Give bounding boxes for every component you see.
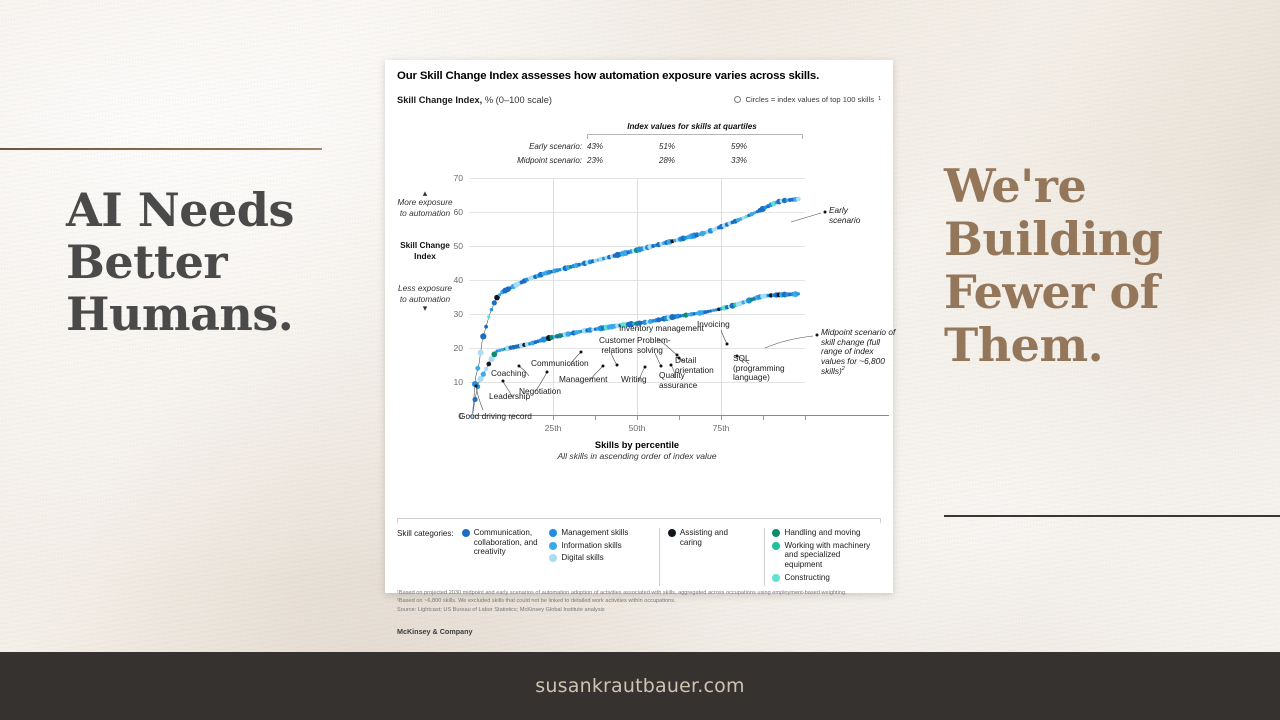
- x-axis-tick-label: 25th: [545, 423, 562, 433]
- legend-dot-icon: [549, 554, 557, 562]
- axis-unit-light: % (0–100 scale): [482, 95, 552, 105]
- x-axis-caption: Skills by percentile All skills in ascen…: [469, 440, 805, 461]
- x-axis-caption-bold: Skills by percentile: [469, 440, 805, 450]
- legend-group-management: Management skills Information skills Dig…: [549, 528, 651, 586]
- x-axis-caption-italic: All skills in ascending order of index v…: [469, 451, 805, 461]
- up-arrow-dot-icon: ▴: [397, 190, 453, 197]
- series-label-midpoint-text: Midpoint scenario of skill change (full …: [821, 327, 895, 376]
- y-axis-less-label: Less exposure to automation: [397, 283, 453, 304]
- y-axis-tick-label: 30: [453, 309, 463, 319]
- chart-axis-unit: Skill Change Index, % (0–100 scale): [397, 95, 552, 105]
- down-arrow-dot-icon: ▾: [397, 305, 453, 312]
- quartile-row-label: Midpoint scenario:: [503, 156, 587, 165]
- legend-group-assisting: Assisting and caring: [668, 528, 756, 586]
- annotation-invoicing: Invoicing: [697, 320, 730, 330]
- footer-url: susankrautbauer.com: [535, 675, 744, 697]
- series-label-early: Early scenario: [829, 206, 860, 225]
- annotation-inventory-management: Inventory management: [619, 324, 704, 334]
- list-item[interactable]: Assisting and caring: [668, 528, 748, 547]
- mckinsey-brand: McKinsey & Company: [397, 627, 473, 636]
- left-divider-rule: [0, 148, 322, 150]
- y-axis-more-label: More exposure to automation: [397, 197, 453, 218]
- y-axis-tick-label: 40: [453, 275, 463, 285]
- list-item[interactable]: Working with machinery and specialized e…: [772, 541, 873, 570]
- legend-item-label: Constructing: [784, 573, 829, 583]
- chart-subheader-row: Skill Change Index, % (0–100 scale) Circ…: [397, 95, 881, 105]
- circles-legend-note: Circles = index values of top 100 skills…: [734, 95, 881, 104]
- axis-unit-bold: Skill Change Index,: [397, 95, 482, 105]
- legend-dot-icon: [549, 529, 557, 537]
- quartile-table-bracket: [587, 134, 803, 139]
- quartile-table: Index values for skills at quartiles Ear…: [503, 122, 833, 165]
- legend-dot-icon: [772, 542, 780, 550]
- quartile-cell: 23%: [587, 156, 659, 165]
- y-axis-tick-label: 20: [453, 343, 463, 353]
- right-divider-rule: [944, 515, 1280, 517]
- quartile-cell: 43%: [587, 142, 659, 151]
- legend-title: Skill categories:: [397, 528, 454, 586]
- annotation-communication: Communication: [531, 359, 589, 369]
- list-item[interactable]: Digital skills: [549, 553, 643, 563]
- legend-separator: [397, 518, 881, 519]
- list-item[interactable]: Handling and moving: [772, 528, 873, 538]
- y-axis-tick-label: 60: [453, 207, 463, 217]
- footnote-2: ²Based on ~6,800 skills. We excluded ski…: [397, 597, 881, 605]
- legend-item-label: Working with machinery and specialized e…: [784, 541, 873, 570]
- quartile-cell: 33%: [731, 156, 803, 165]
- legend-group-handling: Handling and moving Working with machine…: [772, 528, 881, 586]
- chart-plot-area: ▴ More exposure to automation Skill Chan…: [397, 172, 881, 484]
- footnote-1: ¹Based on projected 2030 midpoint and ea…: [397, 589, 881, 597]
- right-headline: We're Building Fewer of Them.: [944, 160, 1244, 372]
- list-item[interactable]: Information skills: [549, 541, 643, 551]
- legend-dot-icon: [462, 529, 470, 537]
- x-axis-tick-label: 50th: [629, 423, 646, 433]
- left-headline: AI Needs Better Humans.: [66, 185, 366, 341]
- y-axis-tick-label: 50: [453, 241, 463, 251]
- chart-footnotes: ¹Based on projected 2030 midpoint and ea…: [397, 589, 881, 614]
- table-row: Early scenario: 43% 51% 59%: [503, 142, 833, 151]
- annotation-customer-relations: Customer relations: [593, 336, 641, 355]
- circles-note-superscript: 1: [878, 96, 881, 102]
- circle-outline-icon: [734, 96, 741, 103]
- y-axis-title: Skill Change Index: [397, 240, 453, 261]
- table-row: Midpoint scenario: 23% 28% 33%: [503, 156, 833, 165]
- legend-dot-icon: [772, 529, 780, 537]
- legend-dot-icon: [668, 529, 676, 537]
- legend-vertical-divider: [764, 528, 765, 586]
- annotation-detail-orientation: Detail orientation: [675, 356, 721, 375]
- list-item[interactable]: Management skills: [549, 528, 643, 538]
- legend-item-label: Assisting and caring: [680, 528, 748, 547]
- x-axis-tick-label: 75th: [713, 423, 730, 433]
- quartile-row-label: Early scenario:: [503, 142, 587, 151]
- annotation-problem-solving: Problem-solving: [637, 336, 677, 355]
- annotation-negotiation: Negotiation: [519, 387, 561, 397]
- legend-item-label: Handling and moving: [784, 528, 860, 538]
- quartile-cell: 59%: [731, 142, 803, 151]
- footnote-source: Source: Lightcast; US Bureau of Labor St…: [397, 606, 881, 614]
- annotation-sql: SQL (programming language): [733, 354, 773, 383]
- chart-card: Our Skill Change Index assesses how auto…: [385, 60, 893, 593]
- quartile-cell: 51%: [659, 142, 731, 151]
- chart-title: Our Skill Change Index assesses how auto…: [397, 70, 881, 84]
- quartile-cell: 28%: [659, 156, 731, 165]
- chart-gridlines: 70 60 50 40 30 20 10 0 25th 50th 75th: [469, 178, 805, 416]
- list-item[interactable]: Communication, collaboration, and creati…: [462, 528, 542, 557]
- annotation-coaching: Coaching: [491, 369, 526, 379]
- legend-item-label: Information skills: [561, 541, 621, 551]
- series-label-midpoint-superscript: 2: [842, 366, 845, 372]
- legend-item-label: Digital skills: [561, 553, 603, 563]
- chart-legend: Skill categories: Communication, collabo…: [397, 528, 881, 586]
- quartile-table-header: Index values for skills at quartiles: [551, 122, 833, 131]
- legend-dot-icon: [772, 574, 780, 582]
- annotation-management: Management: [559, 375, 607, 385]
- legend-dot-icon: [549, 542, 557, 550]
- annotation-writing: Writing: [621, 375, 647, 385]
- y-axis-side-labels: ▴ More exposure to automation Skill Chan…: [397, 190, 453, 312]
- legend-vertical-divider: [659, 528, 660, 586]
- y-axis-tick-label: 70: [453, 173, 463, 183]
- series-label-midpoint: Midpoint scenario of skill change (full …: [821, 328, 899, 376]
- annotation-good-driving-record: Good driving record: [459, 412, 532, 422]
- legend-item-label: Communication, collaboration, and creati…: [474, 528, 542, 557]
- legend-item-label: Management skills: [561, 528, 628, 538]
- y-axis-tick-label: 10: [453, 377, 463, 387]
- list-item[interactable]: Constructing: [772, 573, 873, 583]
- circles-note-text: Circles = index values of top 100 skills: [745, 95, 874, 104]
- footer-bar: susankrautbauer.com: [0, 652, 1280, 720]
- legend-group-communication: Communication, collaboration, and creati…: [454, 528, 550, 586]
